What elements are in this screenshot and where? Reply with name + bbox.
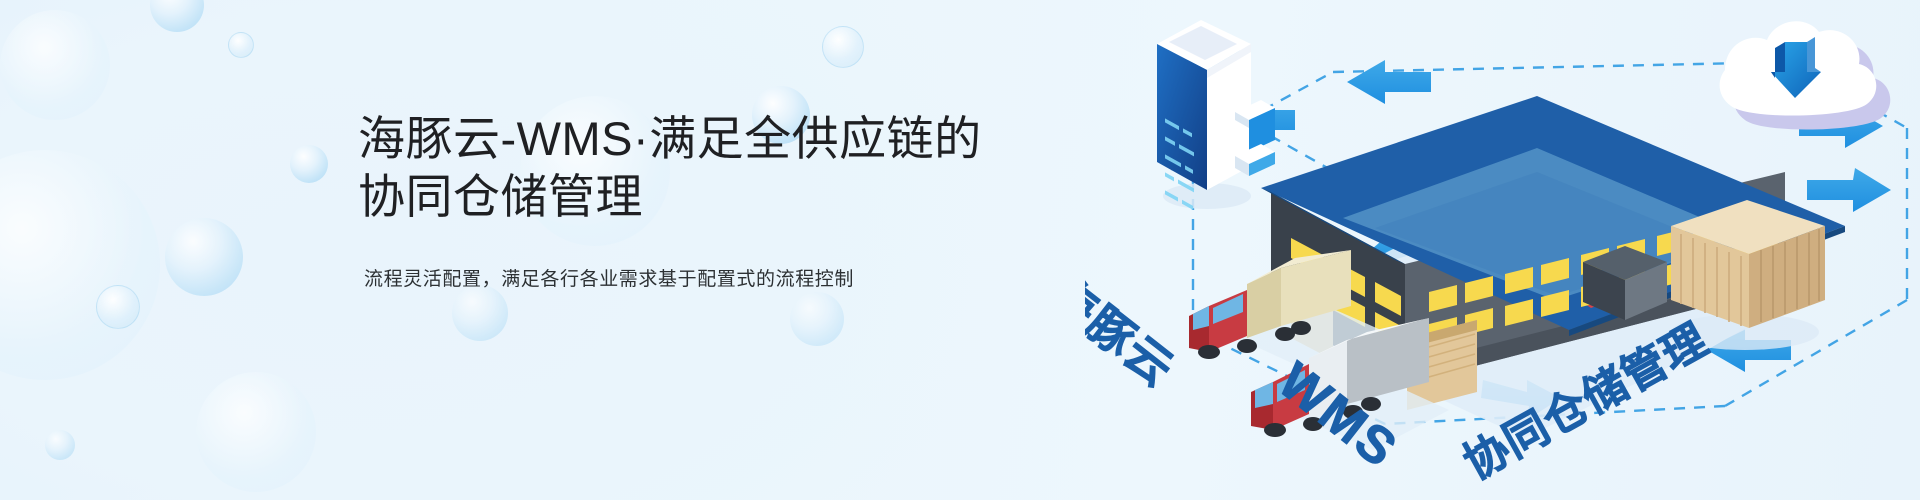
warehouse-illustration: 海豚云 WMS 协同仓储管理: [1085, 0, 1920, 500]
bubble-decoration: [0, 150, 160, 380]
bubble-decoration: [228, 32, 254, 58]
promo-banner: 海豚云-WMS·满足全供应链的 协同仓储管理 流程灵活配置，满足各行各业需求基于…: [0, 0, 1920, 500]
bubble-decoration: [150, 0, 204, 32]
bubble-decoration: [822, 26, 864, 68]
bubble-decoration: [0, 10, 110, 120]
bubble-decoration: [96, 285, 140, 329]
page-subtitle: 流程灵活配置，满足各行各业需求基于配置式的流程控制: [364, 266, 1118, 294]
illustration-label-left-cn: 海豚云: [1085, 267, 1184, 397]
bubble-decoration: [196, 372, 316, 492]
bubble-decoration: [290, 145, 328, 183]
bubble-decoration: [165, 218, 243, 296]
page-title-line-1: 海豚云-WMS·满足全供应链的: [358, 110, 1118, 168]
flow-arrow-icon: [1347, 60, 1431, 104]
bubble-decoration: [790, 292, 844, 346]
flow-arrow-icon: [1807, 168, 1891, 212]
banner-copy: 海豚云-WMS·满足全供应链的 协同仓储管理 流程灵活配置，满足各行各业需求基于…: [358, 110, 1118, 294]
page-title-line-2: 协同仓储管理: [358, 168, 1118, 226]
server-rack-icon: [1157, 20, 1275, 210]
bubble-decoration: [45, 430, 75, 460]
cloud-download-icon: [1720, 21, 1891, 129]
